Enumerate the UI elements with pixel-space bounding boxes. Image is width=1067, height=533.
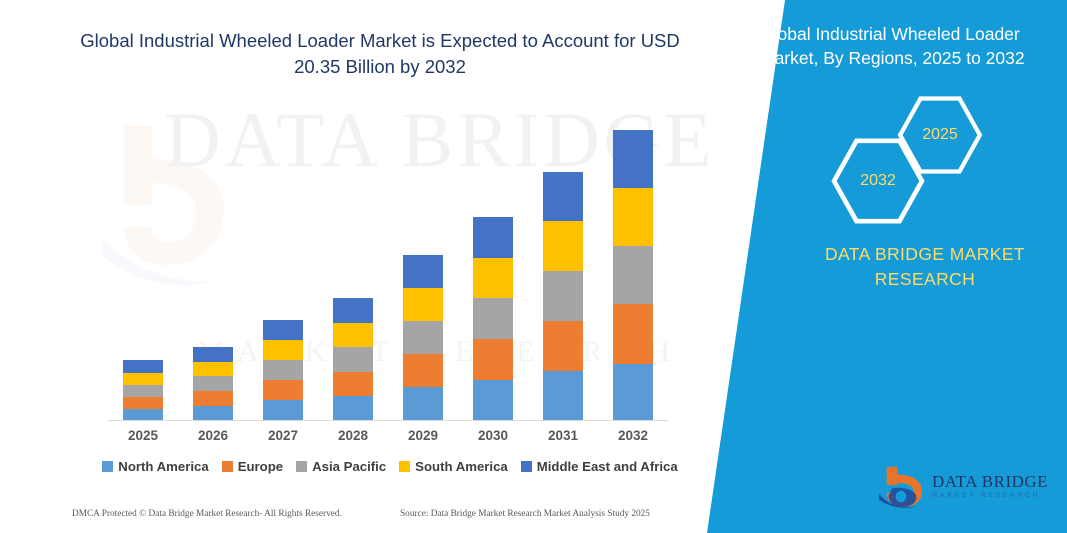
bar-segment xyxy=(333,347,373,371)
bar-segment xyxy=(403,321,443,354)
bar-segment xyxy=(543,321,583,371)
bar-segment xyxy=(263,360,303,380)
legend-item[interactable]: Asia Pacific xyxy=(296,459,386,474)
bar-segment xyxy=(193,406,233,421)
footer-source: Source: Data Bridge Market Research Mark… xyxy=(400,509,650,519)
bar-segment xyxy=(193,391,233,406)
bar-segment xyxy=(473,339,513,380)
bar-segment xyxy=(613,304,653,363)
x-axis-labels: 20252026202720282029203020312032 xyxy=(108,428,668,450)
bar-segment xyxy=(123,360,163,373)
bar-segment xyxy=(613,130,653,188)
legend-label: North America xyxy=(118,459,208,474)
bar-segment xyxy=(263,380,303,400)
x-axis-line xyxy=(108,420,668,421)
bar-column xyxy=(123,360,163,421)
bar-segment xyxy=(123,385,163,397)
legend-item[interactable]: North America xyxy=(102,459,208,474)
legend-swatch xyxy=(521,461,532,472)
bar-segment xyxy=(613,364,653,421)
bar-segment xyxy=(613,246,653,304)
hexagon-badges: 2025 2032 xyxy=(820,96,1050,206)
legend-swatch xyxy=(222,461,233,472)
x-axis-label: 2027 xyxy=(248,428,318,443)
bar-segment xyxy=(333,323,373,347)
x-axis-label: 2031 xyxy=(528,428,598,443)
legend-label: South America xyxy=(415,459,508,474)
bar-segment xyxy=(123,397,163,409)
bar-segment xyxy=(403,387,443,421)
legend-swatch xyxy=(399,461,410,472)
legend-item[interactable]: South America xyxy=(399,459,508,474)
bar-segment xyxy=(333,396,373,421)
bar-segment xyxy=(543,371,583,421)
company-logo-text: DATA BRIDGE MARKET RESEARCH xyxy=(932,473,1048,499)
footer-copyright: DMCA Protected © Data Bridge Market Rese… xyxy=(72,509,342,519)
bar-segment xyxy=(543,221,583,271)
legend-label: Asia Pacific xyxy=(312,459,386,474)
brand-name: DATA BRIDGE MARKET RESEARCH xyxy=(800,242,1050,293)
x-axis-label: 2030 xyxy=(458,428,528,443)
bar-segment xyxy=(333,372,373,396)
hexagon-badge-end-year-label: 2032 xyxy=(860,172,896,190)
bar-column xyxy=(473,217,513,421)
bar-column xyxy=(263,320,303,421)
hexagon-badge-end-year: 2032 xyxy=(830,138,926,224)
stacked-bar-chart xyxy=(108,120,668,421)
bar-segment xyxy=(473,258,513,299)
bar-segment xyxy=(193,347,233,362)
x-axis-label: 2032 xyxy=(598,428,668,443)
data-bridge-logo-icon xyxy=(878,464,926,508)
x-axis-label: 2026 xyxy=(178,428,248,443)
legend-label: Middle East and Africa xyxy=(537,459,678,474)
bar-segment xyxy=(193,362,233,377)
panel-heading: Global Industrial Wheeled Loader Market,… xyxy=(760,22,1050,70)
bar-segment xyxy=(473,298,513,338)
legend-swatch xyxy=(296,461,307,472)
company-logo-title: DATA BRIDGE xyxy=(932,473,1048,490)
x-axis-label: 2025 xyxy=(108,428,178,443)
bar-column xyxy=(403,255,443,421)
bar-segment xyxy=(543,172,583,221)
x-axis-label: 2028 xyxy=(318,428,388,443)
bar-segment xyxy=(543,271,583,320)
bar-segment xyxy=(333,298,373,322)
infographic-root: DATA BRIDGE MARKET RESEARCH Global Indus… xyxy=(0,0,1067,533)
bar-segment xyxy=(403,255,443,288)
bar-segment xyxy=(263,320,303,340)
bar-column xyxy=(333,298,373,421)
page-title: Global Industrial Wheeled Loader Market … xyxy=(60,28,700,81)
bar-segment xyxy=(263,400,303,421)
legend-item[interactable]: Middle East and Africa xyxy=(521,459,678,474)
legend-item[interactable]: Europe xyxy=(222,459,283,474)
company-logo: DATA BRIDGE MARKET RESEARCH xyxy=(878,462,1053,510)
bar-segment xyxy=(193,376,233,391)
bar-segment xyxy=(123,373,163,385)
company-logo-subtitle: MARKET RESEARCH xyxy=(932,493,1048,499)
legend-swatch xyxy=(102,461,113,472)
bar-column xyxy=(193,347,233,421)
bar-segment xyxy=(473,217,513,257)
chart-legend: North AmericaEuropeAsia PacificSouth Ame… xyxy=(100,456,680,476)
x-axis-label: 2029 xyxy=(388,428,458,443)
bar-segment xyxy=(473,380,513,421)
legend-label: Europe xyxy=(238,459,283,474)
bar-segment xyxy=(403,354,443,387)
bar-segment xyxy=(403,288,443,321)
hexagon-badge-start-year-label: 2025 xyxy=(922,126,958,144)
bar-column xyxy=(543,172,583,421)
bar-column xyxy=(613,130,653,421)
bar-segment xyxy=(613,188,653,245)
bar-segment xyxy=(263,340,303,360)
